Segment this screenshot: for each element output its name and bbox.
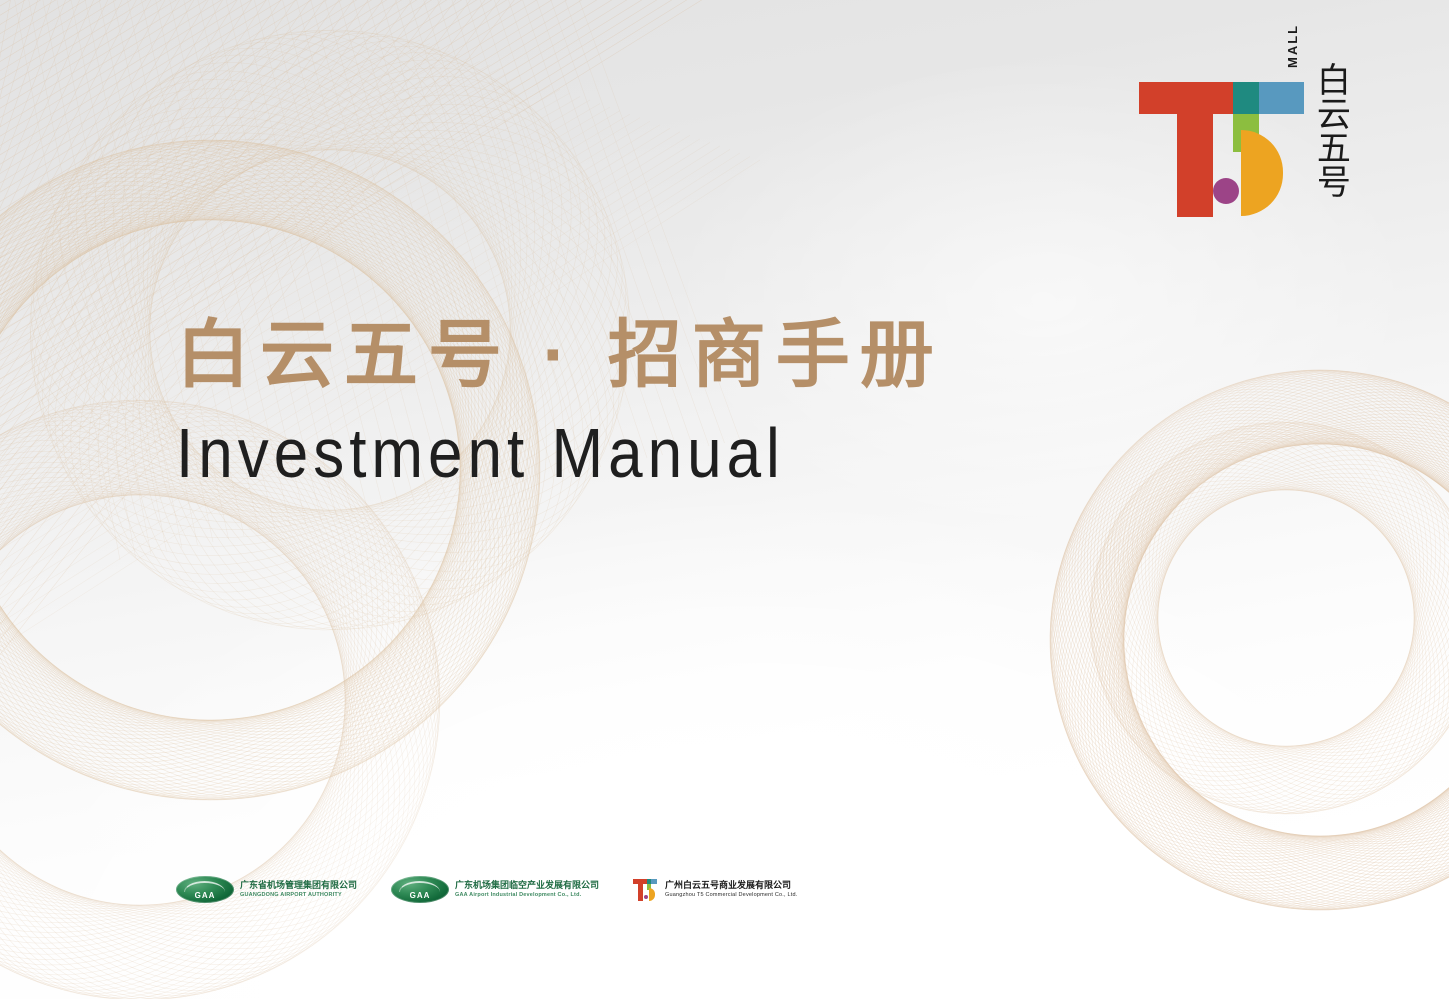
footer-partner-logos: GAA 广东省机场管理集团有限公司 GUANGDONG AIRPORT AUTH…: [176, 876, 797, 903]
partner-text-block: 广州白云五号商业发展有限公司 Guangzhou T5 Commercial D…: [665, 880, 797, 898]
t5-mini-logo-icon: [633, 877, 659, 903]
partner-name-en: GUANGDONG AIRPORT AUTHORITY: [240, 892, 357, 899]
logo-t-stem-shape: [1177, 108, 1213, 217]
title-block: 白云五号 · 招商手册 Investment Manual: [176, 318, 944, 482]
brand-logo: MALL 白云五号: [1135, 60, 1375, 220]
partner-name-cn: 广东机场集团临空产业发展有限公司: [455, 880, 599, 891]
logo-yellow-half-circle: [1241, 130, 1283, 216]
gaa-oval-icon: GAA: [176, 876, 234, 903]
logo-blue-bar: [1259, 82, 1304, 114]
partner-logo-guangdong-airport-authority: GAA 广东省机场管理集团有限公司 GUANGDONG AIRPORT AUTH…: [176, 876, 357, 903]
cover-page: MALL 白云五号 白云五号 · 招商手册 Investment Manual …: [0, 0, 1449, 999]
partner-logo-guangzhou-t5-commercial-development: 广州白云五号商业发展有限公司 Guangzhou T5 Commercial D…: [633, 877, 797, 903]
partner-name-cn: 广州白云五号商业发展有限公司: [665, 880, 797, 891]
gaa-badge-text: GAA: [410, 891, 431, 900]
partner-name-en: Guangzhou T5 Commercial Development Co.,…: [665, 892, 797, 899]
page-title-chinese: 白云五号 · 招商手册: [176, 318, 944, 392]
page-subtitle-english: Investment Manual: [176, 420, 944, 489]
mini-logo-yellow: [649, 888, 655, 901]
logo-teal-square: [1233, 82, 1259, 114]
logo-chinese-name: 白云五号: [1313, 62, 1346, 198]
partner-text-block: 广东机场集团临空产业发展有限公司 GAA Airport Industrial …: [455, 880, 599, 898]
mini-logo-t-stem: [638, 883, 643, 901]
partner-name-cn: 广东省机场管理集团有限公司: [240, 880, 357, 891]
logo-purple-dot: [1213, 178, 1239, 204]
partner-logo-gaa-airport-industrial-development: GAA 广东机场集团临空产业发展有限公司 GAA Airport Industr…: [391, 876, 599, 903]
mini-logo-dot: [644, 895, 648, 899]
gaa-badge-text: GAA: [195, 891, 216, 900]
partner-text-block: 广东省机场管理集团有限公司 GUANGDONG AIRPORT AUTHORIT…: [240, 880, 357, 898]
logo-mall-label: MALL: [1285, 24, 1300, 68]
mini-logo-blue: [651, 879, 657, 884]
gaa-oval-icon: GAA: [391, 876, 449, 903]
t5-logo-mark: [1135, 82, 1285, 217]
partner-name-en: GAA Airport Industrial Development Co., …: [455, 892, 599, 899]
